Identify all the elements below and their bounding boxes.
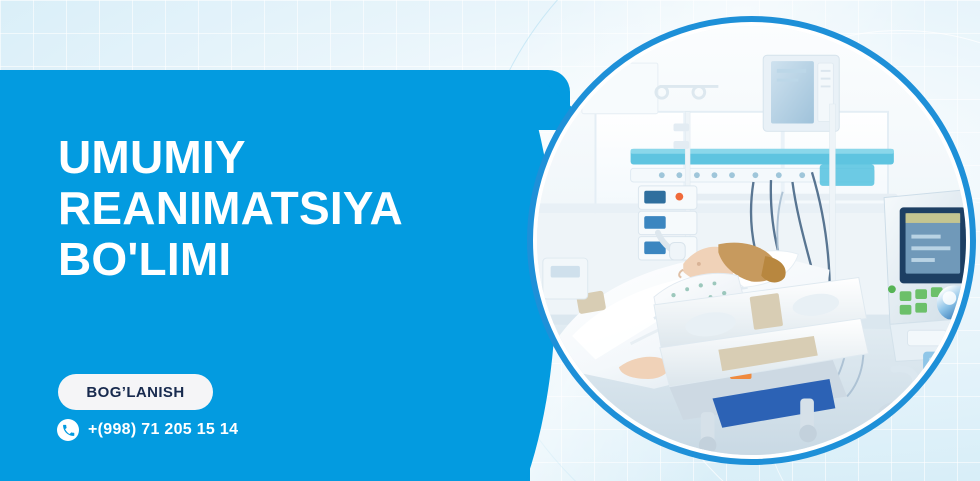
icu-room-illustration [537,26,966,455]
page-title: UMUMIY REANIMATSIYA BO'LIMI [58,132,488,285]
hero-photo [537,26,966,455]
phone-icon [57,419,79,441]
hero-photo-circle [527,16,976,465]
phone-link[interactable]: +(998) 71 205 15 14 [57,419,238,441]
phone-number: +(998) 71 205 15 14 [88,421,238,439]
hero-content: UMUMIY REANIMATSIYA BO'LIMI [58,132,488,285]
hero-banner: UMUMIY REANIMATSIYA BO'LIMI BOG’LANISH +… [0,0,980,481]
contact-button[interactable]: BOG’LANISH [58,374,213,410]
